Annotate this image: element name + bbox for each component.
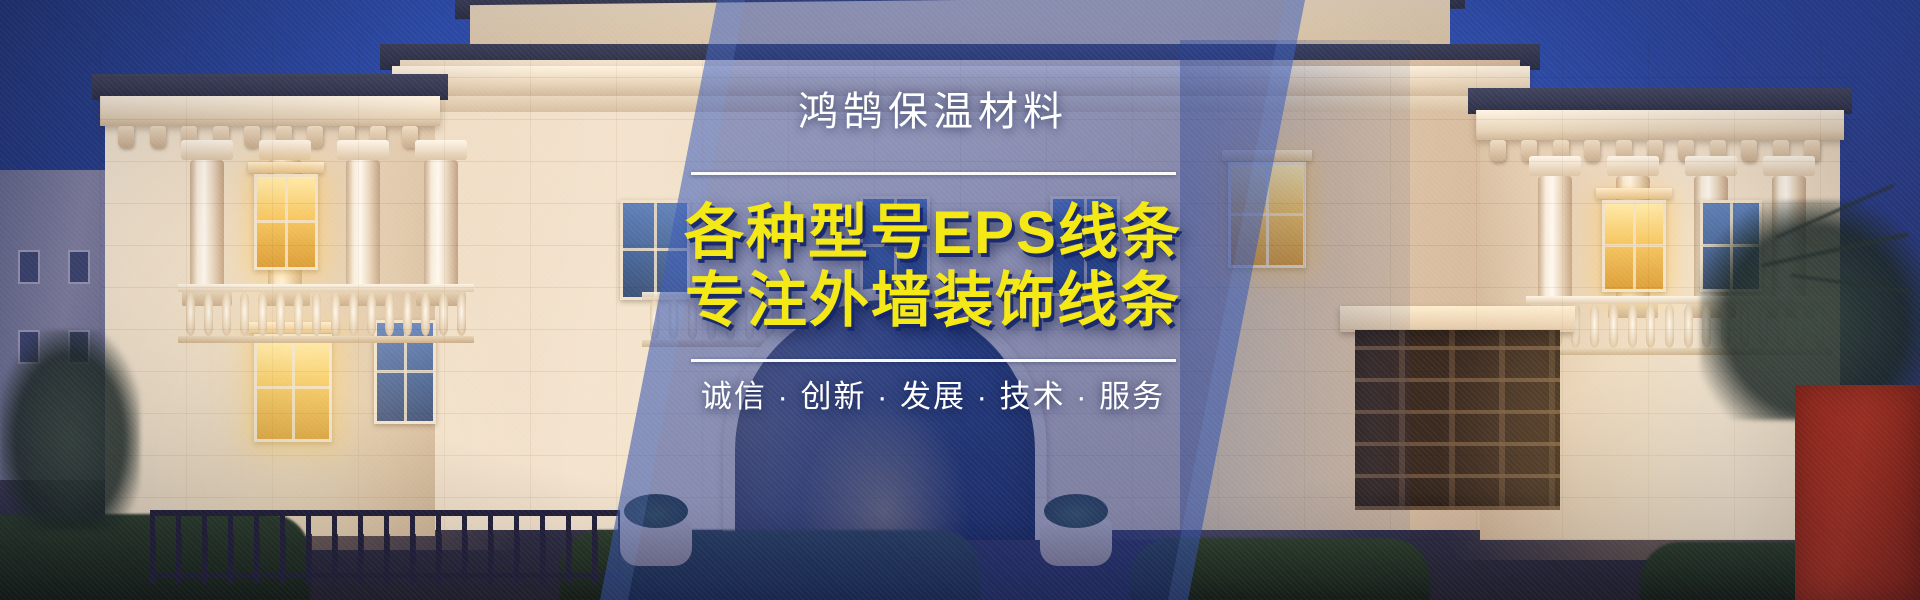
adjacent-building-window (68, 250, 90, 284)
tagline: 诚信 · 创新 · 发展 · 技术 · 服务 (583, 380, 1283, 414)
banner-copy: 鸿鹄保温材料 各种型号EPS线条 专注外墙装饰线条 诚信 · 创新 · 发展 ·… (583, 92, 1283, 414)
red-container (1795, 385, 1920, 600)
headline-line-1: 各种型号EPS线条 (583, 199, 1283, 267)
brand-name: 鸿鹄保温材料 (583, 92, 1283, 132)
foreground-railing (150, 504, 620, 600)
divider-top (691, 172, 1176, 175)
headline-line-2: 专注外墙装饰线条 (583, 267, 1283, 335)
headline-block: 各种型号EPS线条 专注外墙装饰线条 (583, 199, 1283, 335)
tree (0, 330, 140, 530)
promo-banner: 鸿鹄保温材料 各种型号EPS线条 专注外墙装饰线条 诚信 · 创新 · 发展 ·… (0, 0, 1920, 600)
uplight-left (120, 150, 540, 550)
adjacent-building-window (18, 250, 40, 284)
divider-bottom (691, 359, 1176, 362)
